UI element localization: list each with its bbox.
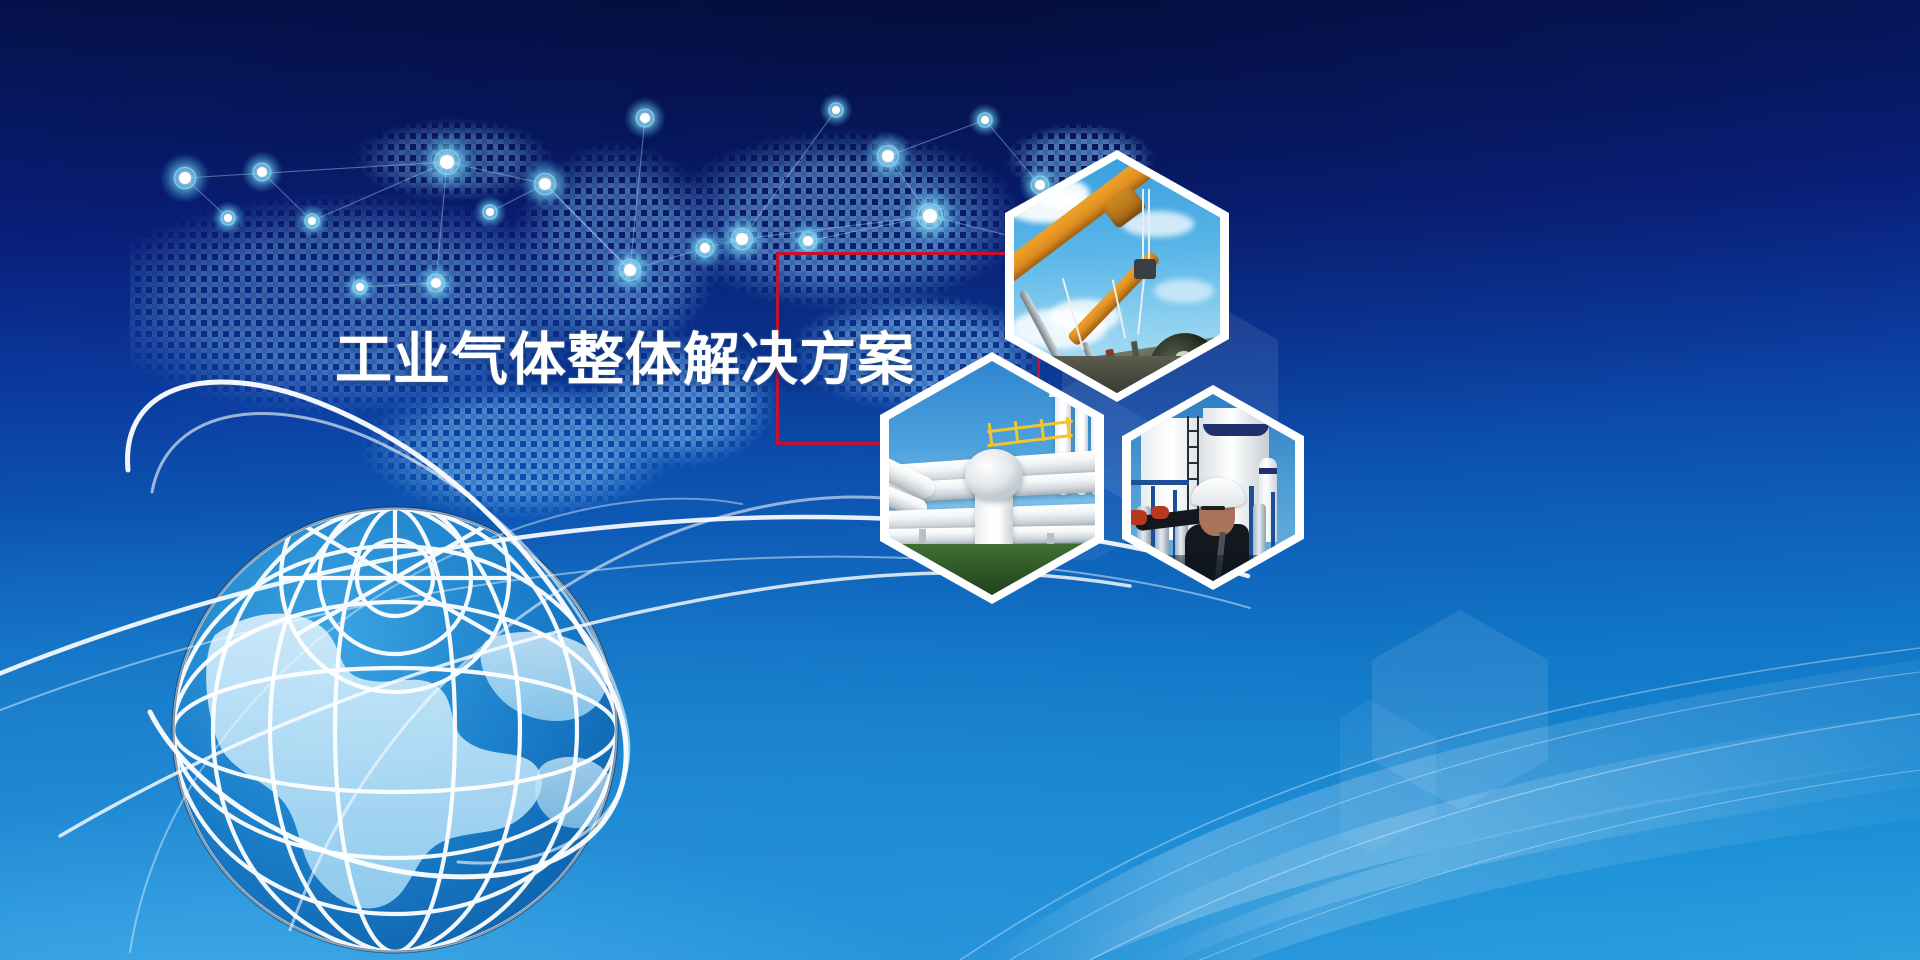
wireframe-globe xyxy=(95,430,735,960)
page-title-text: 工业气体整体解决方案 xyxy=(335,332,915,389)
banner-canvas: 工业气体整体解决方案 xyxy=(0,0,1920,960)
page-title: 工业气体整体解决方案 xyxy=(335,318,855,402)
industrial-pipeline-image xyxy=(889,361,1095,595)
crane-lifting-vessel-image xyxy=(1014,159,1220,393)
engineer-inspection-image xyxy=(1131,394,1295,581)
